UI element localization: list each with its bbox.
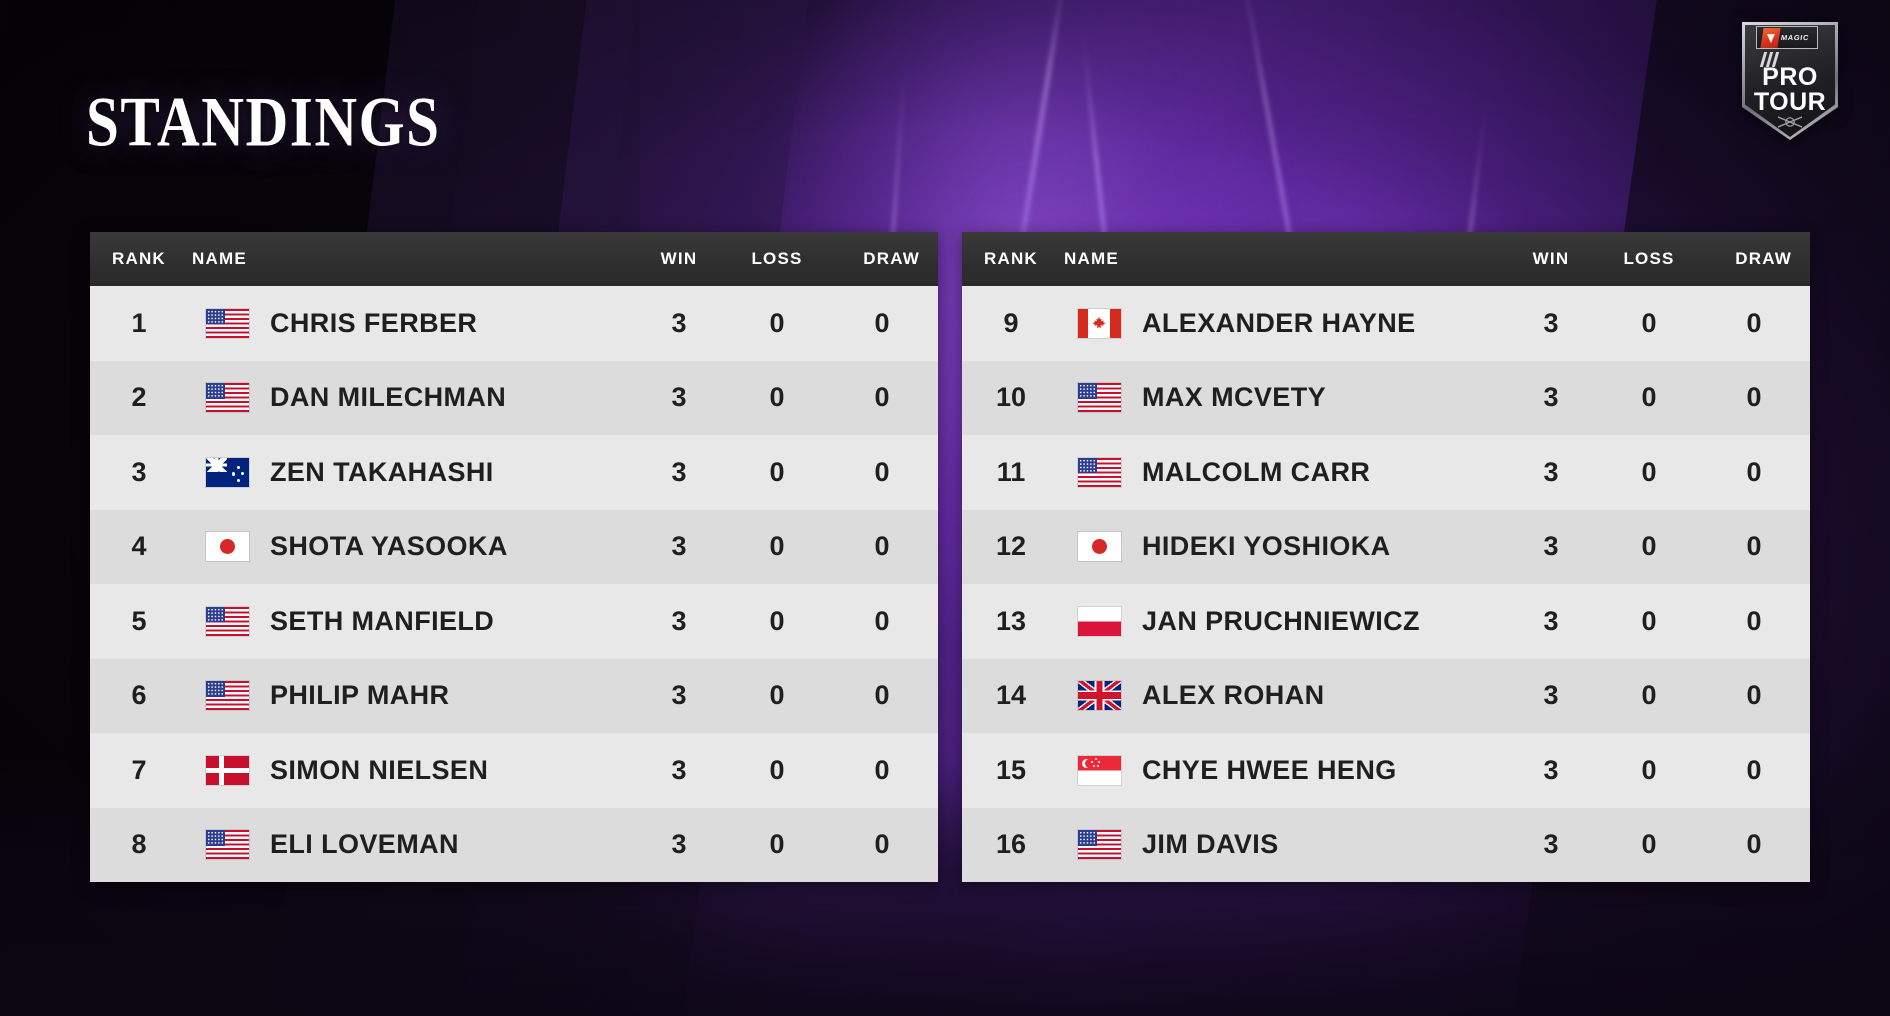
cell-loss: 0 bbox=[728, 680, 826, 711]
cell-draw: 0 bbox=[1698, 829, 1810, 860]
planeswalker-symbol-icon bbox=[1760, 28, 1780, 48]
flag-nz-icon bbox=[206, 458, 249, 487]
cell-loss: 0 bbox=[1600, 680, 1698, 711]
cell-rank: 3 bbox=[90, 457, 188, 488]
badge-emblem-icon bbox=[1776, 114, 1804, 130]
cell-draw: 0 bbox=[1698, 680, 1810, 711]
flag-us-icon bbox=[206, 383, 249, 412]
cell-flag bbox=[188, 309, 266, 338]
table-row[interactable]: 6PHILIP MAHR300 bbox=[90, 659, 938, 734]
cell-player-name: PHILIP MAHR bbox=[266, 680, 630, 711]
cell-draw: 0 bbox=[826, 829, 938, 860]
table-row[interactable]: 8ELI LOVEMAN300 bbox=[90, 808, 938, 883]
cell-loss: 0 bbox=[1600, 829, 1698, 860]
cell-player-name: SHOTA YASOOKA bbox=[266, 531, 630, 562]
cell-draw: 0 bbox=[826, 680, 938, 711]
column-header-loss: LOSS bbox=[1600, 249, 1698, 269]
cell-rank: 10 bbox=[962, 382, 1060, 413]
cell-draw: 0 bbox=[1698, 755, 1810, 786]
cell-flag bbox=[1060, 607, 1138, 636]
badge-shield: MAGIC PRO TOUR bbox=[1742, 22, 1838, 140]
cell-draw: 0 bbox=[826, 308, 938, 339]
cell-rank: 15 bbox=[962, 755, 1060, 786]
cell-flag bbox=[1060, 458, 1138, 487]
cell-loss: 0 bbox=[1600, 531, 1698, 562]
flag-us-icon bbox=[206, 830, 249, 859]
cell-rank: 16 bbox=[962, 829, 1060, 860]
column-header-name: NAME bbox=[1060, 249, 1502, 269]
flag-us-icon bbox=[206, 607, 249, 636]
cell-draw: 0 bbox=[1698, 382, 1810, 413]
cell-player-name: CHYE HWEE HENG bbox=[1138, 755, 1502, 786]
cell-flag bbox=[188, 681, 266, 710]
column-header-rank: RANK bbox=[90, 249, 188, 269]
cell-flag bbox=[188, 383, 266, 412]
cell-player-name: CHRIS FERBER bbox=[266, 308, 630, 339]
magic-pro-tour-logo: MAGIC PRO TOUR bbox=[1742, 22, 1838, 140]
badge-line-tour: TOUR bbox=[1742, 91, 1838, 114]
cell-flag bbox=[1060, 532, 1138, 561]
table-row[interactable]: 1CHRIS FERBER300 bbox=[90, 286, 938, 361]
cell-loss: 0 bbox=[728, 308, 826, 339]
cell-player-name: ELI LOVEMAN bbox=[266, 829, 630, 860]
cell-win: 3 bbox=[1502, 755, 1600, 786]
flag-pl-icon bbox=[1078, 607, 1121, 636]
table-row[interactable]: 5SETH MANFIELD300 bbox=[90, 584, 938, 659]
cell-flag bbox=[1060, 830, 1138, 859]
cell-flag bbox=[188, 756, 266, 785]
cell-player-name: MALCOLM CARR bbox=[1138, 457, 1502, 488]
cell-win: 3 bbox=[1502, 531, 1600, 562]
flag-gb-icon bbox=[1078, 681, 1121, 710]
cell-rank: 13 bbox=[962, 606, 1060, 637]
cell-win: 3 bbox=[1502, 606, 1600, 637]
table-row[interactable]: 10MAX MCVETY300 bbox=[962, 361, 1810, 436]
cell-loss: 0 bbox=[728, 382, 826, 413]
cell-loss: 0 bbox=[1600, 382, 1698, 413]
table-row[interactable]: 13JAN PRUCHNIEWICZ300 bbox=[962, 584, 1810, 659]
cell-player-name: JIM DAVIS bbox=[1138, 829, 1502, 860]
standings-table-left: RANK NAME WIN LOSS DRAW 1CHRIS FERBER300… bbox=[90, 232, 938, 882]
cell-flag bbox=[188, 607, 266, 636]
cell-rank: 7 bbox=[90, 755, 188, 786]
page-title: STANDINGS bbox=[86, 81, 441, 163]
flag-us-icon bbox=[1078, 830, 1121, 859]
flag-dk-icon bbox=[206, 756, 249, 785]
table-row[interactable]: 11MALCOLM CARR300 bbox=[962, 435, 1810, 510]
magic-brand-banner: MAGIC bbox=[1756, 26, 1818, 49]
cell-flag bbox=[1060, 383, 1138, 412]
column-header-name: NAME bbox=[188, 249, 630, 269]
flag-us-icon bbox=[1078, 383, 1121, 412]
cell-loss: 0 bbox=[728, 457, 826, 488]
cell-flag bbox=[1060, 681, 1138, 710]
cell-loss: 0 bbox=[1600, 606, 1698, 637]
flag-us-icon bbox=[206, 681, 249, 710]
cell-draw: 0 bbox=[826, 606, 938, 637]
badge-line-pro: PRO bbox=[1742, 66, 1838, 89]
cell-win: 3 bbox=[1502, 829, 1600, 860]
cell-player-name: DAN MILECHMAN bbox=[266, 382, 630, 413]
table-row[interactable]: 12HIDEKI YOSHIOKA300 bbox=[962, 510, 1810, 585]
cell-rank: 5 bbox=[90, 606, 188, 637]
cell-rank: 12 bbox=[962, 531, 1060, 562]
cell-draw: 0 bbox=[826, 457, 938, 488]
cell-win: 3 bbox=[630, 382, 728, 413]
cell-rank: 2 bbox=[90, 382, 188, 413]
cell-win: 3 bbox=[630, 680, 728, 711]
cell-loss: 0 bbox=[728, 606, 826, 637]
table-row[interactable]: 2DAN MILECHMAN300 bbox=[90, 361, 938, 436]
column-header-win: WIN bbox=[1502, 249, 1600, 269]
cell-rank: 9 bbox=[962, 308, 1060, 339]
cell-player-name: JAN PRUCHNIEWICZ bbox=[1138, 606, 1502, 637]
cell-rank: 14 bbox=[962, 680, 1060, 711]
cell-player-name: HIDEKI YOSHIOKA bbox=[1138, 531, 1502, 562]
cell-flag bbox=[188, 458, 266, 487]
cell-win: 3 bbox=[1502, 382, 1600, 413]
badge-wordmark: PRO TOUR bbox=[1742, 66, 1838, 114]
cell-loss: 0 bbox=[728, 531, 826, 562]
cell-rank: 11 bbox=[962, 457, 1060, 488]
cell-win: 3 bbox=[630, 457, 728, 488]
table-header-row: RANK NAME WIN LOSS DRAW bbox=[962, 232, 1810, 286]
cell-win: 3 bbox=[1502, 308, 1600, 339]
cell-draw: 0 bbox=[826, 382, 938, 413]
cell-draw: 0 bbox=[826, 531, 938, 562]
cell-player-name: ALEXANDER HAYNE bbox=[1138, 308, 1502, 339]
cell-loss: 0 bbox=[1600, 308, 1698, 339]
cell-player-name: ALEX ROHAN bbox=[1138, 680, 1502, 711]
cell-draw: 0 bbox=[1698, 606, 1810, 637]
table-row[interactable]: 16JIM DAVIS300 bbox=[962, 808, 1810, 883]
cell-player-name: SETH MANFIELD bbox=[266, 606, 630, 637]
cell-player-name: MAX MCVETY bbox=[1138, 382, 1502, 413]
cell-win: 3 bbox=[630, 606, 728, 637]
cell-rank: 1 bbox=[90, 308, 188, 339]
cell-flag bbox=[1060, 309, 1138, 338]
table-row[interactable]: 7SIMON NIELSEN300 bbox=[90, 733, 938, 808]
cell-loss: 0 bbox=[728, 829, 826, 860]
flag-jp-icon bbox=[206, 532, 249, 561]
cell-draw: 0 bbox=[826, 755, 938, 786]
flag-sg-icon bbox=[1078, 756, 1121, 785]
column-header-rank: RANK bbox=[962, 249, 1060, 269]
cell-loss: 0 bbox=[1600, 755, 1698, 786]
magic-wordmark: MAGIC bbox=[1780, 33, 1809, 42]
flag-ca-icon bbox=[1078, 309, 1121, 338]
cell-win: 3 bbox=[630, 755, 728, 786]
cell-rank: 6 bbox=[90, 680, 188, 711]
table-row[interactable]: 15CHYE HWEE HENG300 bbox=[962, 733, 1810, 808]
column-header-loss: LOSS bbox=[728, 249, 826, 269]
cell-win: 3 bbox=[630, 531, 728, 562]
column-header-win: WIN bbox=[630, 249, 728, 269]
cell-loss: 0 bbox=[1600, 457, 1698, 488]
table-header-row: RANK NAME WIN LOSS DRAW bbox=[90, 232, 938, 286]
flag-us-icon bbox=[206, 309, 249, 338]
table-row[interactable]: 3ZEN TAKAHASHI300 bbox=[90, 435, 938, 510]
cell-player-name: ZEN TAKAHASHI bbox=[266, 457, 630, 488]
table-body: 1CHRIS FERBER3002DAN MILECHMAN3003ZEN TA… bbox=[90, 286, 938, 882]
table-body: 9ALEXANDER HAYNE30010MAX MCVETY30011MALC… bbox=[962, 286, 1810, 882]
column-header-draw: DRAW bbox=[1698, 249, 1810, 269]
cell-flag bbox=[1060, 756, 1138, 785]
flag-jp-icon bbox=[1078, 532, 1121, 561]
cell-draw: 0 bbox=[1698, 531, 1810, 562]
cell-loss: 0 bbox=[728, 755, 826, 786]
cell-rank: 4 bbox=[90, 531, 188, 562]
cell-win: 3 bbox=[1502, 680, 1600, 711]
flag-us-icon bbox=[1078, 458, 1121, 487]
table-row[interactable]: 4SHOTA YASOOKA300 bbox=[90, 510, 938, 585]
column-header-draw: DRAW bbox=[826, 249, 938, 269]
cell-draw: 0 bbox=[1698, 308, 1810, 339]
cell-win: 3 bbox=[1502, 457, 1600, 488]
standings-table-right: RANK NAME WIN LOSS DRAW 9ALEXANDER HAYNE… bbox=[962, 232, 1810, 882]
cell-win: 3 bbox=[630, 308, 728, 339]
cell-player-name: SIMON NIELSEN bbox=[266, 755, 630, 786]
cell-rank: 8 bbox=[90, 829, 188, 860]
table-row[interactable]: 14ALEX ROHAN300 bbox=[962, 659, 1810, 734]
table-row[interactable]: 9ALEXANDER HAYNE300 bbox=[962, 286, 1810, 361]
cell-flag bbox=[188, 830, 266, 859]
cell-draw: 0 bbox=[1698, 457, 1810, 488]
cell-flag bbox=[188, 532, 266, 561]
cell-win: 3 bbox=[630, 829, 728, 860]
